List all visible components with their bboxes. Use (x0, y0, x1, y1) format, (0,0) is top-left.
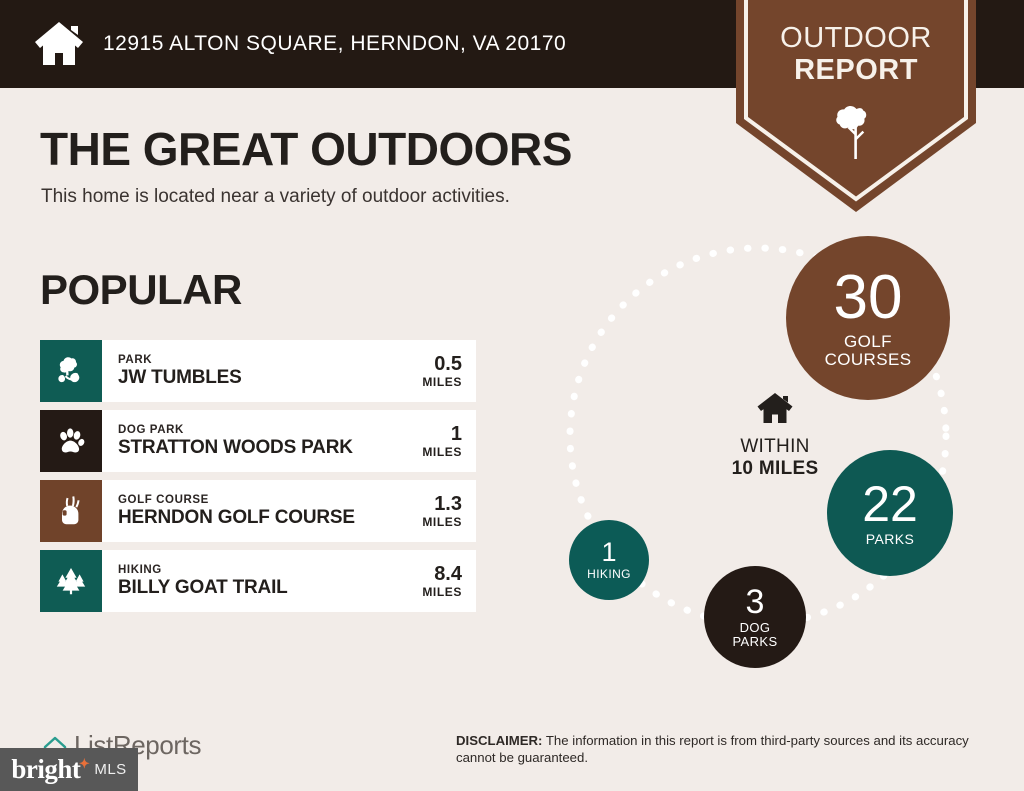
within-10-miles-diagram: 30 GOLF COURSES 22 PARKS 3 DOG PARKS 1 H… (540, 228, 1010, 678)
list-item-distance: 0.5 MILES (408, 353, 462, 389)
home-icon (33, 18, 85, 70)
badge-text: OUTDOOR REPORT (736, 22, 976, 86)
bubble-label-line-1: HIKING (587, 568, 631, 581)
bubble-label-line-1: DOG (740, 621, 771, 635)
list-item-texts: GOLF COURSE HERNDON GOLF COURSE (118, 493, 355, 529)
list-item-body: PARK JW TUMBLES 0.5 MILES (102, 340, 476, 402)
bubble-value: 30 (834, 267, 903, 329)
popular-list: PARK JW TUMBLES 0.5 MILES (40, 340, 476, 620)
list-item-distance-value: 1 (408, 423, 462, 445)
diagram-center: WITHIN 10 MILES (670, 391, 880, 480)
list-item-distance: 1.3 MILES (408, 493, 462, 529)
list-item-category: GOLF COURSE (118, 493, 355, 507)
bubble-label-line-2: COURSES (825, 351, 912, 369)
list-item-distance-unit: MILES (408, 515, 462, 529)
page-title: THE GREAT OUTDOORS (40, 122, 572, 176)
outdoor-report-badge: OUTDOOR REPORT (736, 0, 976, 212)
pine-trees-icon (54, 564, 88, 598)
list-item-distance: 8.4 MILES (408, 563, 462, 599)
paw-print-icon (54, 424, 88, 458)
dog-park-icon-box (40, 410, 102, 472)
list-item-texts: HIKING BILLY GOAT TRAIL (118, 563, 288, 599)
bubble-dog-parks: 3 DOG PARKS (704, 566, 806, 668)
hiking-icon-box (40, 550, 102, 612)
disclaimer: DISCLAIMER: The information in this repo… (456, 732, 984, 766)
list-item-category: PARK (118, 353, 242, 367)
list-item-body: GOLF COURSE HERNDON GOLF COURSE 1.3 MILE… (102, 480, 476, 542)
page-subtitle: This home is located near a variety of o… (41, 186, 510, 208)
list-item[interactable]: DOG PARK STRATTON WOODS PARK 1 MILES (40, 410, 476, 472)
property-address: 12915 ALTON SQUARE, HERNDON, VA 20170 (103, 32, 566, 56)
list-item-name: STRATTON WOODS PARK (118, 437, 353, 459)
bubble-value: 22 (862, 479, 918, 529)
center-label-line-2: 10 MILES (670, 458, 880, 480)
center-label-line-1: WITHIN (670, 436, 880, 458)
badge-line-1: OUTDOOR (736, 22, 976, 54)
bubble-label-line-1: PARKS (866, 532, 914, 547)
list-item-texts: DOG PARK STRATTON WOODS PARK (118, 423, 353, 459)
list-item-distance-value: 1.3 (408, 493, 462, 515)
star-icon: ✦ (79, 756, 89, 772)
park-icon-box (40, 340, 102, 402)
golf-course-icon-box (40, 480, 102, 542)
badge-line-2: REPORT (736, 54, 976, 86)
list-item-name: HERNDON GOLF COURSE (118, 507, 355, 529)
list-item[interactable]: PARK JW TUMBLES 0.5 MILES (40, 340, 476, 402)
list-item-distance: 1 MILES (408, 423, 462, 459)
bubble-label-line-2: PARKS (732, 635, 777, 649)
bubble-hiking: 1 HIKING (569, 520, 649, 600)
list-item-distance-unit: MILES (408, 375, 462, 389)
list-item-distance-value: 8.4 (408, 563, 462, 585)
park-tree-icon (54, 354, 88, 388)
list-item[interactable]: HIKING BILLY GOAT TRAIL 8.4 MILES (40, 550, 476, 612)
list-item-name: JW TUMBLES (118, 367, 242, 389)
list-item-distance-unit: MILES (408, 585, 462, 599)
watermark-brand: bright ✦ (11, 754, 80, 785)
list-item-body: DOG PARK STRATTON WOODS PARK 1 MILES (102, 410, 476, 472)
home-icon (756, 412, 794, 429)
popular-heading: POPULAR (40, 266, 242, 314)
diagram-center-text: WITHIN 10 MILES (670, 436, 880, 480)
watermark-mls-text: MLS (94, 761, 126, 778)
bubble-golf-courses: 30 GOLF COURSES (786, 236, 950, 400)
golf-bag-icon (54, 494, 88, 528)
list-item-texts: PARK JW TUMBLES (118, 353, 242, 389)
bright-mls-watermark: bright ✦ MLS (0, 748, 138, 791)
list-item-name: BILLY GOAT TRAIL (118, 577, 288, 599)
list-item-category: HIKING (118, 563, 288, 577)
list-item-distance-value: 0.5 (408, 353, 462, 375)
watermark-brand-text: bright (11, 754, 80, 784)
bubble-value: 1 (601, 539, 616, 566)
list-item-category: DOG PARK (118, 423, 353, 437)
list-item[interactable]: GOLF COURSE HERNDON GOLF COURSE 1.3 MILE… (40, 480, 476, 542)
bubble-value: 3 (746, 585, 765, 619)
disclaimer-label: DISCLAIMER: (456, 733, 542, 748)
list-item-body: HIKING BILLY GOAT TRAIL 8.4 MILES (102, 550, 476, 612)
bubble-label-line-1: GOLF (844, 333, 892, 351)
list-item-distance-unit: MILES (408, 445, 462, 459)
